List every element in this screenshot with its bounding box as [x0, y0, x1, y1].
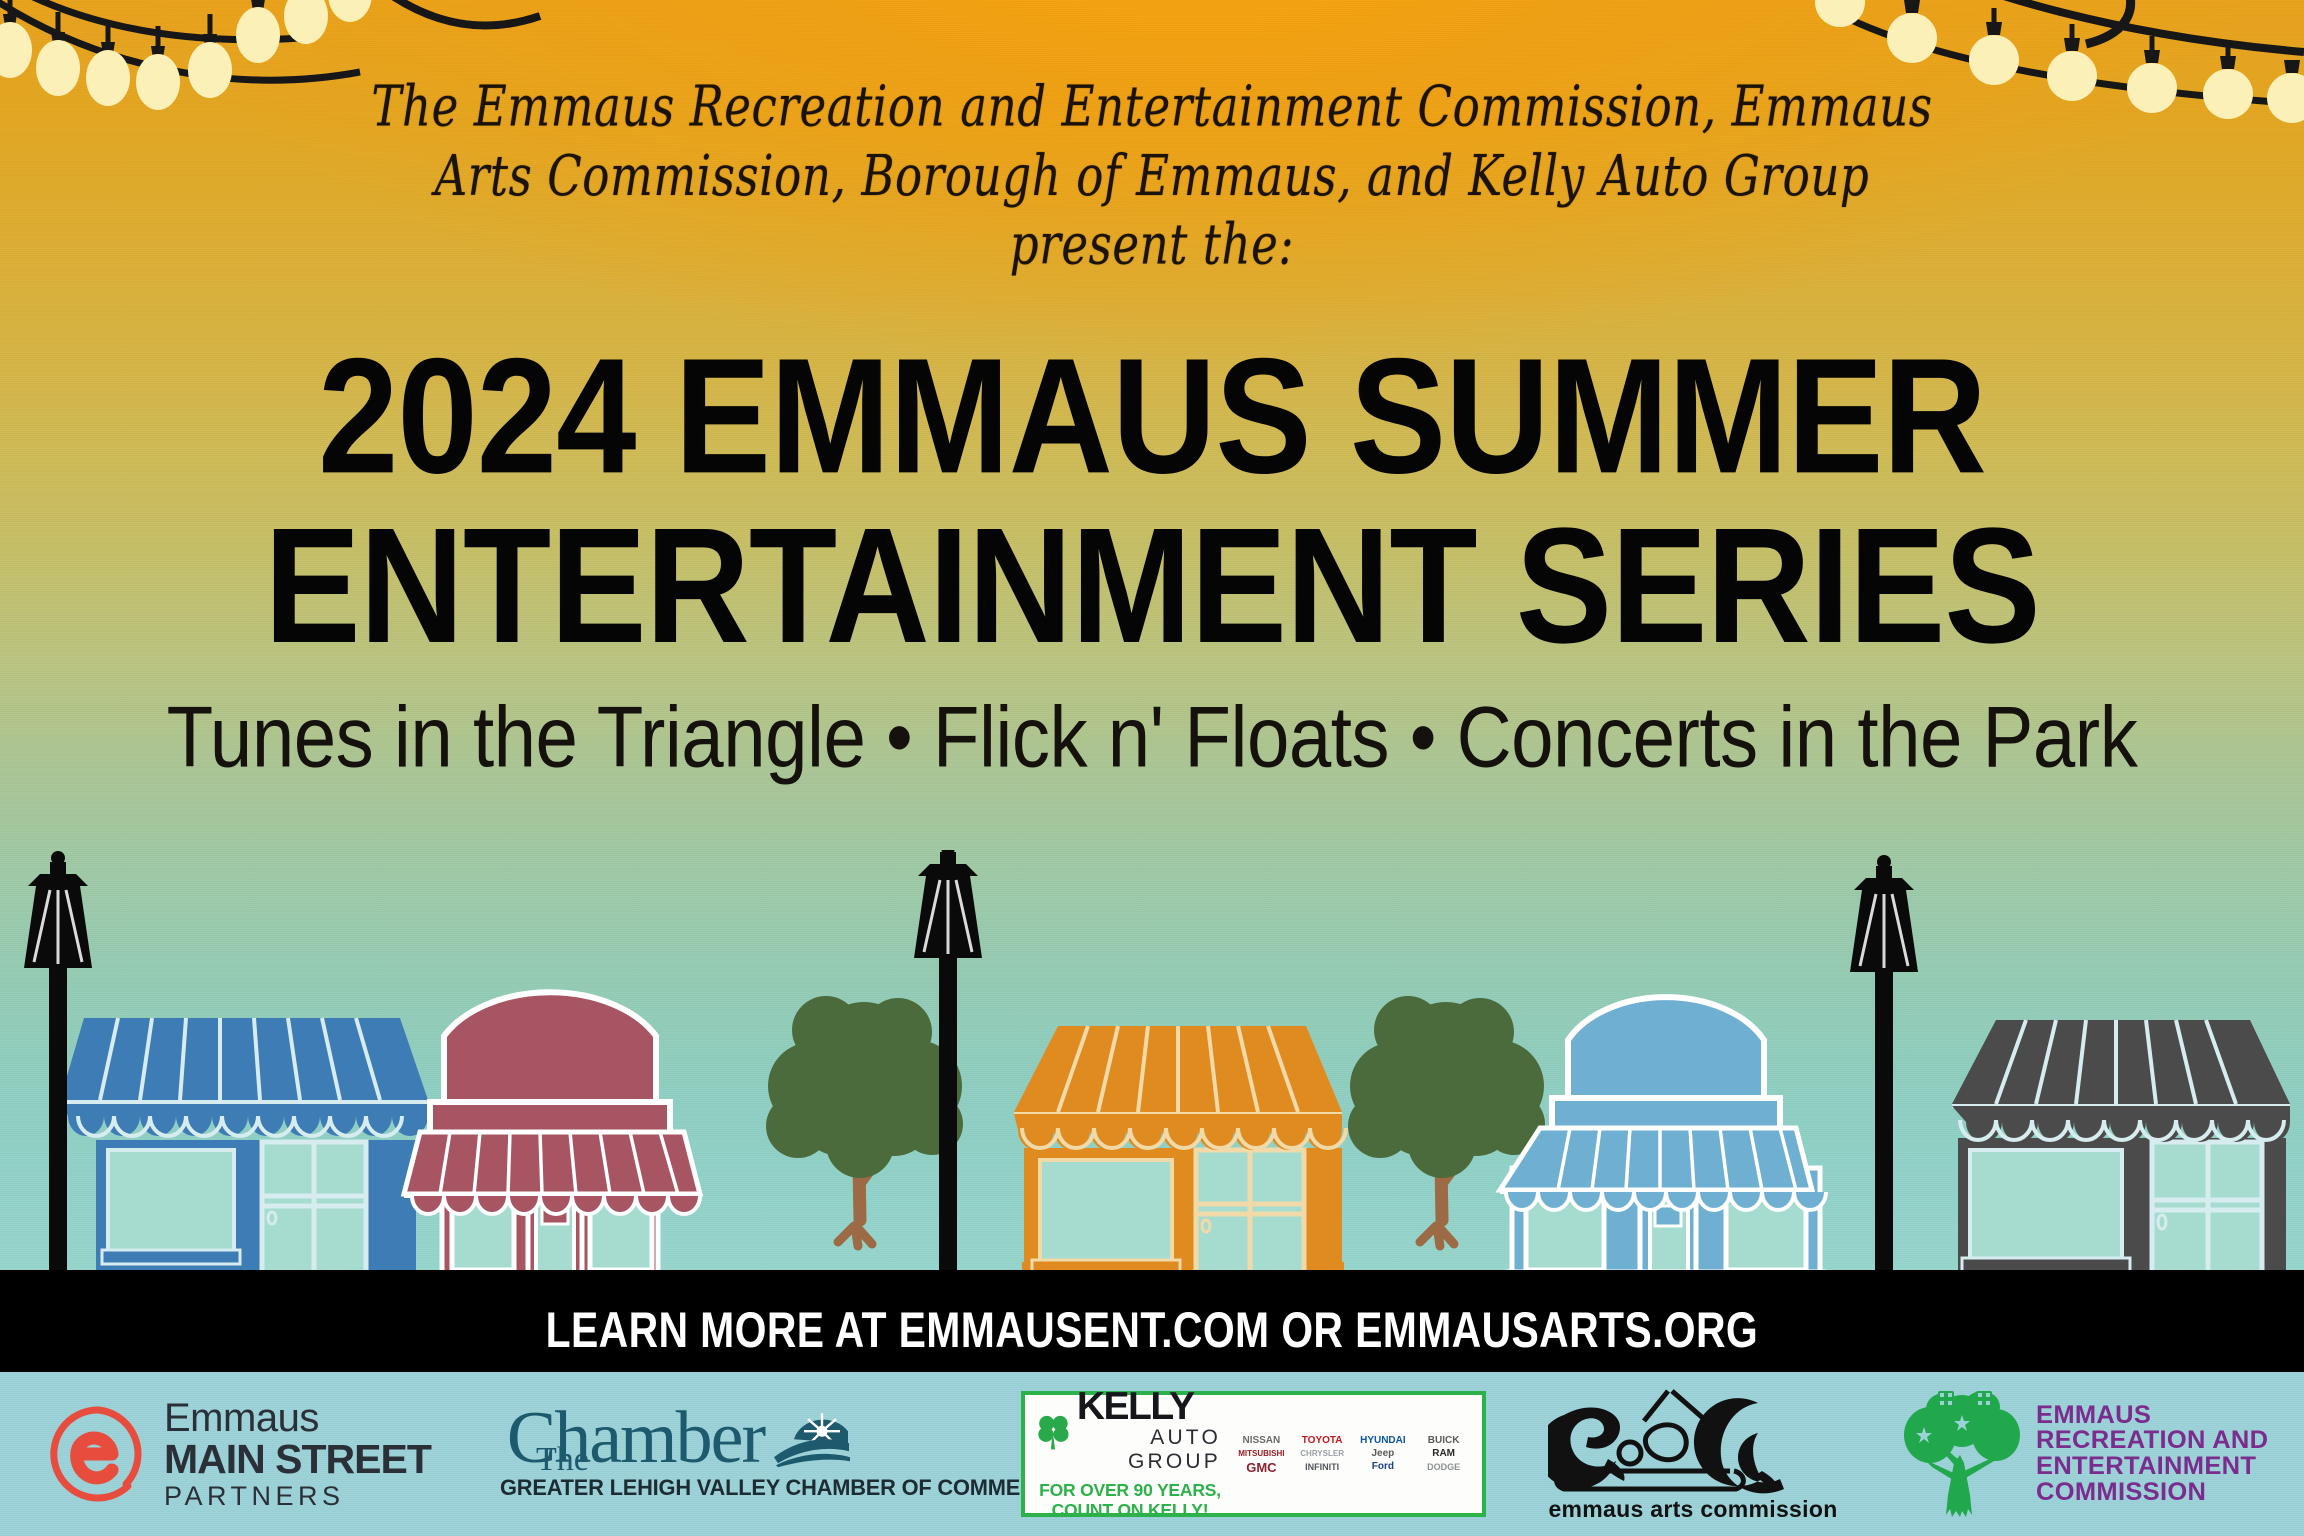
kelly-brand-grid: NISSAN TOYOTA HYUNDAI BUICK MITSUBISHI C…	[1225, 1435, 1474, 1474]
learn-more-banner: LEARN MORE AT EMMAUSENT.COM OR EMMAUSART…	[0, 1290, 2304, 1372]
emsp-line-2: MAIN STREET	[164, 1439, 431, 1480]
lamp-post-right	[1850, 855, 1918, 1338]
brand-mitsubishi: MITSUBISHI	[1238, 1450, 1284, 1458]
chamber-the: The	[536, 1441, 589, 1479]
shamrock-icon	[1035, 1409, 1072, 1453]
erec-line-4: COMMISSION	[2036, 1480, 2268, 1506]
logo-emmaus-recreation-entertainment-commission[interactable]: EMMAUS RECREATION AND ENTERTAINMENT COMM…	[1902, 1391, 2264, 1517]
building-red-storefront	[404, 992, 700, 1310]
building-gray-storefront	[1952, 1020, 2290, 1300]
emmaus-e-circle-icon	[48, 1404, 148, 1504]
building-orange-storefront	[1014, 1026, 1346, 1300]
tree-filmstrip-icon	[1902, 1391, 2026, 1517]
title-line-1: 2024 EMMAUS SUMMER	[58, 332, 2247, 501]
brand-nissan: NISSAN	[1242, 1436, 1280, 1446]
brand-ram: RAM	[1432, 1449, 1455, 1459]
emsp-line-3: PARTNERS	[164, 1483, 431, 1510]
eac-brushstroke-icon	[1548, 1385, 1838, 1495]
sponsor-footer: Emmaus MAIN STREET PARTNERS The Chamber	[0, 1372, 2304, 1536]
kelly-auto-group: AUTO GROUP	[1077, 1426, 1225, 1474]
erec-line-1: EMMAUS	[2036, 1403, 2268, 1429]
intro-line-2: Arts Commission, Borough of Emmaus, and …	[435, 142, 1870, 208]
streetscape-illustration	[0, 850, 2304, 1338]
brand-infiniti: INFINITI	[1305, 1463, 1339, 1472]
presenter-intro-text: The Emmaus Recreation and Entertainment …	[23, 72, 2281, 279]
eac-caption: emmaus arts commission	[1548, 1496, 1838, 1523]
chamber-sunrise-icon	[772, 1409, 850, 1467]
logo-greater-lehigh-valley-chamber[interactable]: The Chamber GREATER LEHIGH VALLEY CHAMBE…	[500, 1407, 1083, 1501]
erec-line-3: ENTERTAINMENT	[2036, 1454, 2268, 1480]
building-blue-storefront	[60, 1018, 428, 1296]
brand-ford: Ford	[1372, 1462, 1394, 1472]
logo-emmaus-arts-commission[interactable]: emmaus arts commission	[1548, 1385, 1838, 1523]
page-title: 2024 EMMAUS SUMMER ENTERTAINMENT SERIES	[58, 332, 2247, 670]
brand-buick: BUICK	[1428, 1436, 1460, 1446]
kelly-tagline-1: FOR OVER 90 YEARS,	[1035, 1480, 1225, 1500]
brand-toyota: TOYOTA	[1302, 1436, 1343, 1446]
title-line-2: ENTERTAINMENT SERIES	[58, 501, 2247, 670]
intro-line-3: present the:	[23, 210, 2281, 279]
logo-emmaus-main-street-partners[interactable]: Emmaus MAIN STREET PARTNERS	[48, 1398, 431, 1510]
learn-more-text: LEARN MORE AT EMMAUSENT.COM OR EMMAUSART…	[546, 1303, 1759, 1360]
kelly-tagline-2: COUNT ON KELLY!	[1035, 1500, 1225, 1520]
tree-left	[766, 996, 963, 1246]
poster-root: The Emmaus Recreation and Entertainment …	[0, 0, 2304, 1536]
brand-chrysler: CHRYSLER	[1300, 1450, 1344, 1458]
brand-jeep: Jeep	[1371, 1449, 1394, 1459]
logo-kelly-auto-group[interactable]: KELLY AUTO GROUP FOR OVER 90 YEARS, COUN…	[1021, 1391, 1486, 1517]
erec-line-2: RECREATION AND	[2036, 1428, 2268, 1454]
brand-dodge: DODGE	[1427, 1463, 1460, 1472]
event-subtitle: Tunes in the Triangle • Flick n' Floats …	[12, 688, 2293, 788]
brand-gmc: GMC	[1246, 1461, 1276, 1474]
brand-hyundai: HYUNDAI	[1360, 1436, 1406, 1446]
emsp-line-1: Emmaus	[164, 1398, 431, 1438]
building-lightblue-storefront	[1500, 997, 1826, 1310]
kelly-word: KELLY	[1077, 1388, 1225, 1425]
intro-line-1: The Emmaus Recreation and Entertainment …	[371, 73, 1932, 139]
